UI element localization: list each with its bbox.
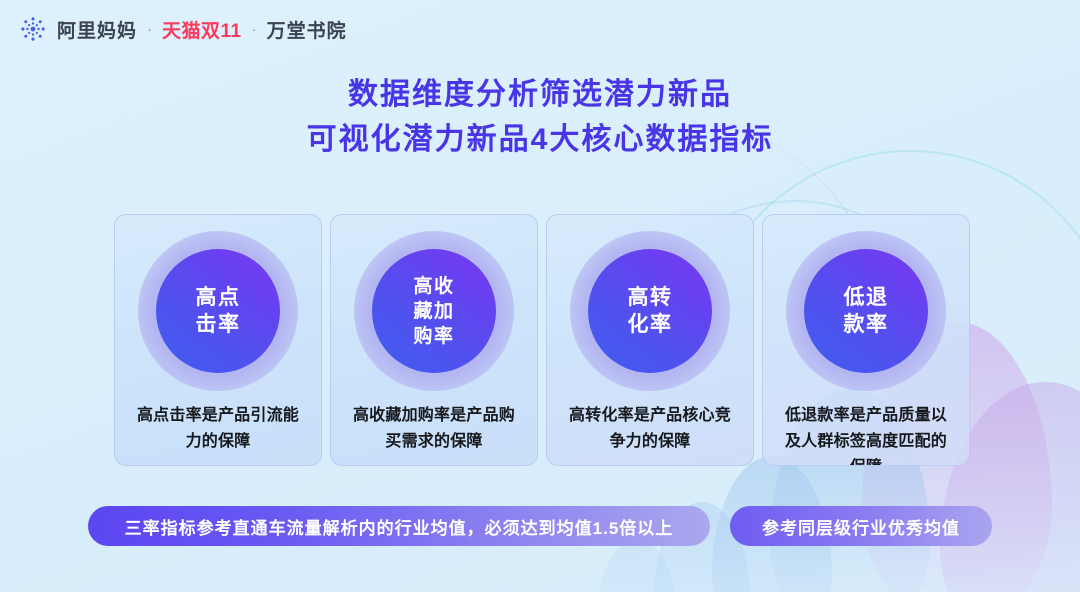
decorative-blob-blue-4 [598,540,676,592]
footnote-pill-peer-average[interactable]: 参考同层级行业优秀均值 [730,506,992,546]
metric-card-refund-rate[interactable]: 低退 款率 低退款率是产品质量以及人群标签高度匹配的保障 [762,214,970,466]
metric-badge-label: 低退 款率 [844,284,889,338]
metric-card-description: 高收藏加购率是产品购买需求的保障 [331,403,537,455]
footnote-pill-three-rates[interactable]: 三率指标参考直通车流量解析内的行业均值，必须达到均值1.5倍以上 [88,506,710,546]
metric-card-click-rate[interactable]: 高点 击率 高点击率是产品引流能力的保障 [114,214,322,466]
metric-badge: 高点 击率 [138,231,298,391]
page-title-line-1: 数据维度分析筛选潜力新品 [0,72,1080,117]
alimama-burst-logo-icon [18,14,48,44]
metric-badge-label: 高转 化率 [628,284,673,338]
metric-card-conversion-rate[interactable]: 高转 化率 高转化率是产品核心竞争力的保障 [546,214,754,466]
metric-badge-core: 高收 藏加 购率 [372,249,496,373]
slide-canvas: 阿里妈妈 · 天猫双11 · 万堂书院 数据维度分析筛选潜力新品 可视化潜力新品… [0,0,1080,592]
page-title: 数据维度分析筛选潜力新品 可视化潜力新品4大核心数据指标 [0,72,1080,162]
metric-badge: 高收 藏加 购率 [354,231,514,391]
brand-sub-label: 万堂书院 [267,16,347,43]
brand-bar: 阿里妈妈 · 天猫双11 · 万堂书院 [18,12,347,46]
metric-badge-core: 高转 化率 [588,249,712,373]
brand-separator-2: · [251,21,258,38]
metric-card-list: 高点 击率 高点击率是产品引流能力的保障 高收 藏加 购率 高收藏加购率是产品购… [114,214,970,466]
page-title-line-2: 可视化潜力新品4大核心数据指标 [0,117,1080,162]
metric-badge-label: 高点 击率 [196,284,241,338]
footnote-pill-row: 三率指标参考直通车流量解析内的行业均值，必须达到均值1.5倍以上 参考同层级行业… [88,506,992,546]
brand-campaign: 天猫双11 [162,16,242,43]
metric-badge: 高转 化率 [570,231,730,391]
brand-name: 阿里妈妈 [57,16,137,43]
metric-card-description: 高转化率是产品核心竞争力的保障 [547,403,753,455]
brand-separator-1: · [146,21,153,38]
metric-badge-core: 高点 击率 [156,249,280,373]
metric-card-description: 高点击率是产品引流能力的保障 [115,403,321,455]
metric-badge-core: 低退 款率 [804,249,928,373]
metric-badge: 低退 款率 [786,231,946,391]
metric-badge-label: 高收 藏加 购率 [413,274,454,349]
metric-card-favorite-cart-rate[interactable]: 高收 藏加 购率 高收藏加购率是产品购买需求的保障 [330,214,538,466]
metric-card-description: 低退款率是产品质量以及人群标签高度匹配的保障 [763,403,969,466]
